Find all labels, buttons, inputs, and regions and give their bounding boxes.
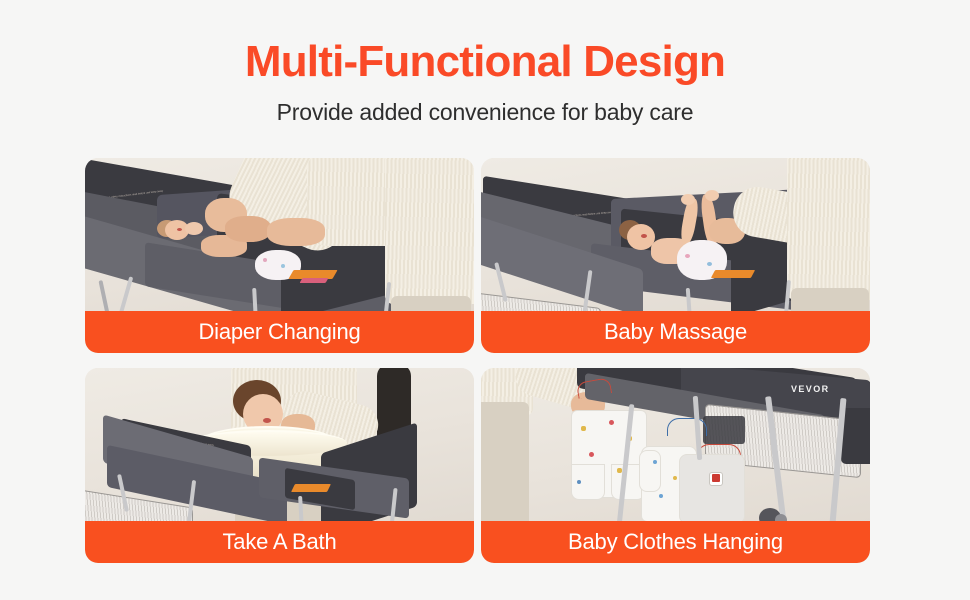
feature-card-baby-massage[interactable]: WARNING care and safety instructions rea… bbox=[481, 158, 870, 353]
feature-card-take-a-bath[interactable]: WARNING care and safety instructions rea… bbox=[85, 368, 474, 563]
card-caption: Baby Clothes Hanging bbox=[481, 521, 870, 563]
page-subtitle: Provide added convenience for baby care bbox=[0, 99, 970, 126]
page-title: Multi-Functional Design bbox=[0, 38, 970, 86]
card-caption: Baby Massage bbox=[481, 311, 870, 353]
header: Multi-Functional Design Provide added co… bbox=[0, 0, 970, 126]
card-caption: Diaper Changing bbox=[85, 311, 474, 353]
feature-card-diaper-changing[interactable]: WARNING care and safety instructions rea… bbox=[85, 158, 474, 353]
feature-card-grid: WARNING care and safety instructions rea… bbox=[85, 158, 870, 563]
brand-label: VEVOR bbox=[791, 384, 830, 394]
feature-card-baby-clothes-hanging[interactable]: VEVOR bbox=[481, 368, 870, 563]
product-feature-graphic: Multi-Functional Design Provide added co… bbox=[0, 0, 970, 600]
card-caption: Take A Bath bbox=[85, 521, 474, 563]
